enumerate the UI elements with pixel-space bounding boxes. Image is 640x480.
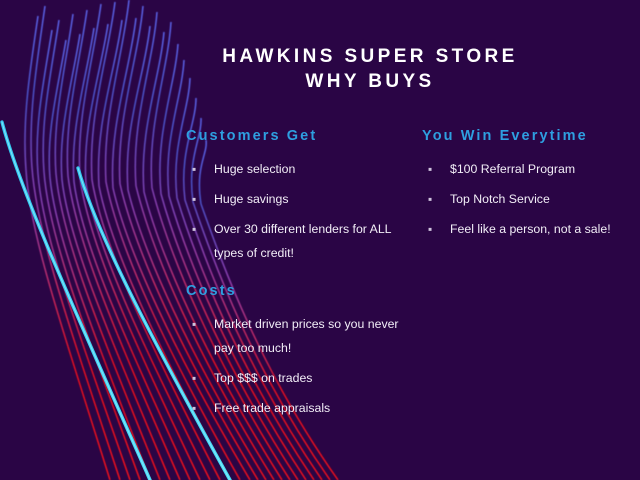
section-heading: Customers Get (186, 128, 401, 144)
list-item-label: Free trade appraisals (214, 401, 330, 415)
bullet-icon: ▪ (192, 366, 196, 390)
list-item: ▪ Feel like a person, not a sale! (422, 217, 627, 241)
bullet-icon: ▪ (192, 187, 196, 211)
slide-title: HAWKINS SUPER STORE WHY BUYS (160, 44, 580, 94)
list-item-label: Huge selection (214, 162, 295, 176)
section-customers-get: Customers Get ▪ Huge selection ▪ Huge sa… (186, 128, 401, 271)
bullet-list: ▪ Market driven prices so you never pay … (186, 312, 401, 420)
bullet-icon: ▪ (428, 157, 432, 181)
list-item: ▪ Market driven prices so you never pay … (186, 312, 401, 360)
section-you-win-everytime: You Win Everytime ▪ $100 Referral Progra… (422, 128, 627, 247)
bullet-icon: ▪ (192, 396, 196, 420)
bullet-list: ▪ Huge selection ▪ Huge savings ▪ Over 3… (186, 157, 401, 265)
list-item-label: Feel like a person, not a sale! (450, 222, 611, 236)
title-line-2: WHY BUYS (160, 69, 580, 94)
bullet-icon: ▪ (428, 217, 432, 241)
list-item-label: Market driven prices so you never pay to… (214, 317, 399, 355)
list-item: ▪ $100 Referral Program (422, 157, 627, 181)
section-heading: You Win Everytime (422, 128, 627, 144)
bullet-list: ▪ $100 Referral Program ▪ Top Notch Serv… (422, 157, 627, 241)
list-item: ▪ Top Notch Service (422, 187, 627, 211)
section-costs: Costs ▪ Market driven prices so you neve… (186, 283, 401, 426)
list-item-label: Huge savings (214, 192, 289, 206)
list-item: ▪ Huge savings (186, 187, 401, 211)
slide-canvas: HAWKINS SUPER STORE WHY BUYS Customers G… (0, 0, 640, 480)
list-item-label: Top $$$ on trades (214, 371, 312, 385)
bullet-icon: ▪ (428, 187, 432, 211)
title-line-1: HAWKINS SUPER STORE (160, 44, 580, 69)
list-item: ▪ Free trade appraisals (186, 396, 401, 420)
bullet-icon: ▪ (192, 217, 196, 241)
list-item-label: Over 30 different lenders for ALL types … (214, 222, 391, 260)
bullet-icon: ▪ (192, 157, 196, 181)
list-item: ▪ Over 30 different lenders for ALL type… (186, 217, 401, 265)
list-item-label: Top Notch Service (450, 192, 550, 206)
list-item-label: $100 Referral Program (450, 162, 575, 176)
list-item: ▪ Huge selection (186, 157, 401, 181)
bullet-icon: ▪ (192, 312, 196, 336)
list-item: ▪ Top $$$ on trades (186, 366, 401, 390)
section-heading: Costs (186, 283, 401, 299)
